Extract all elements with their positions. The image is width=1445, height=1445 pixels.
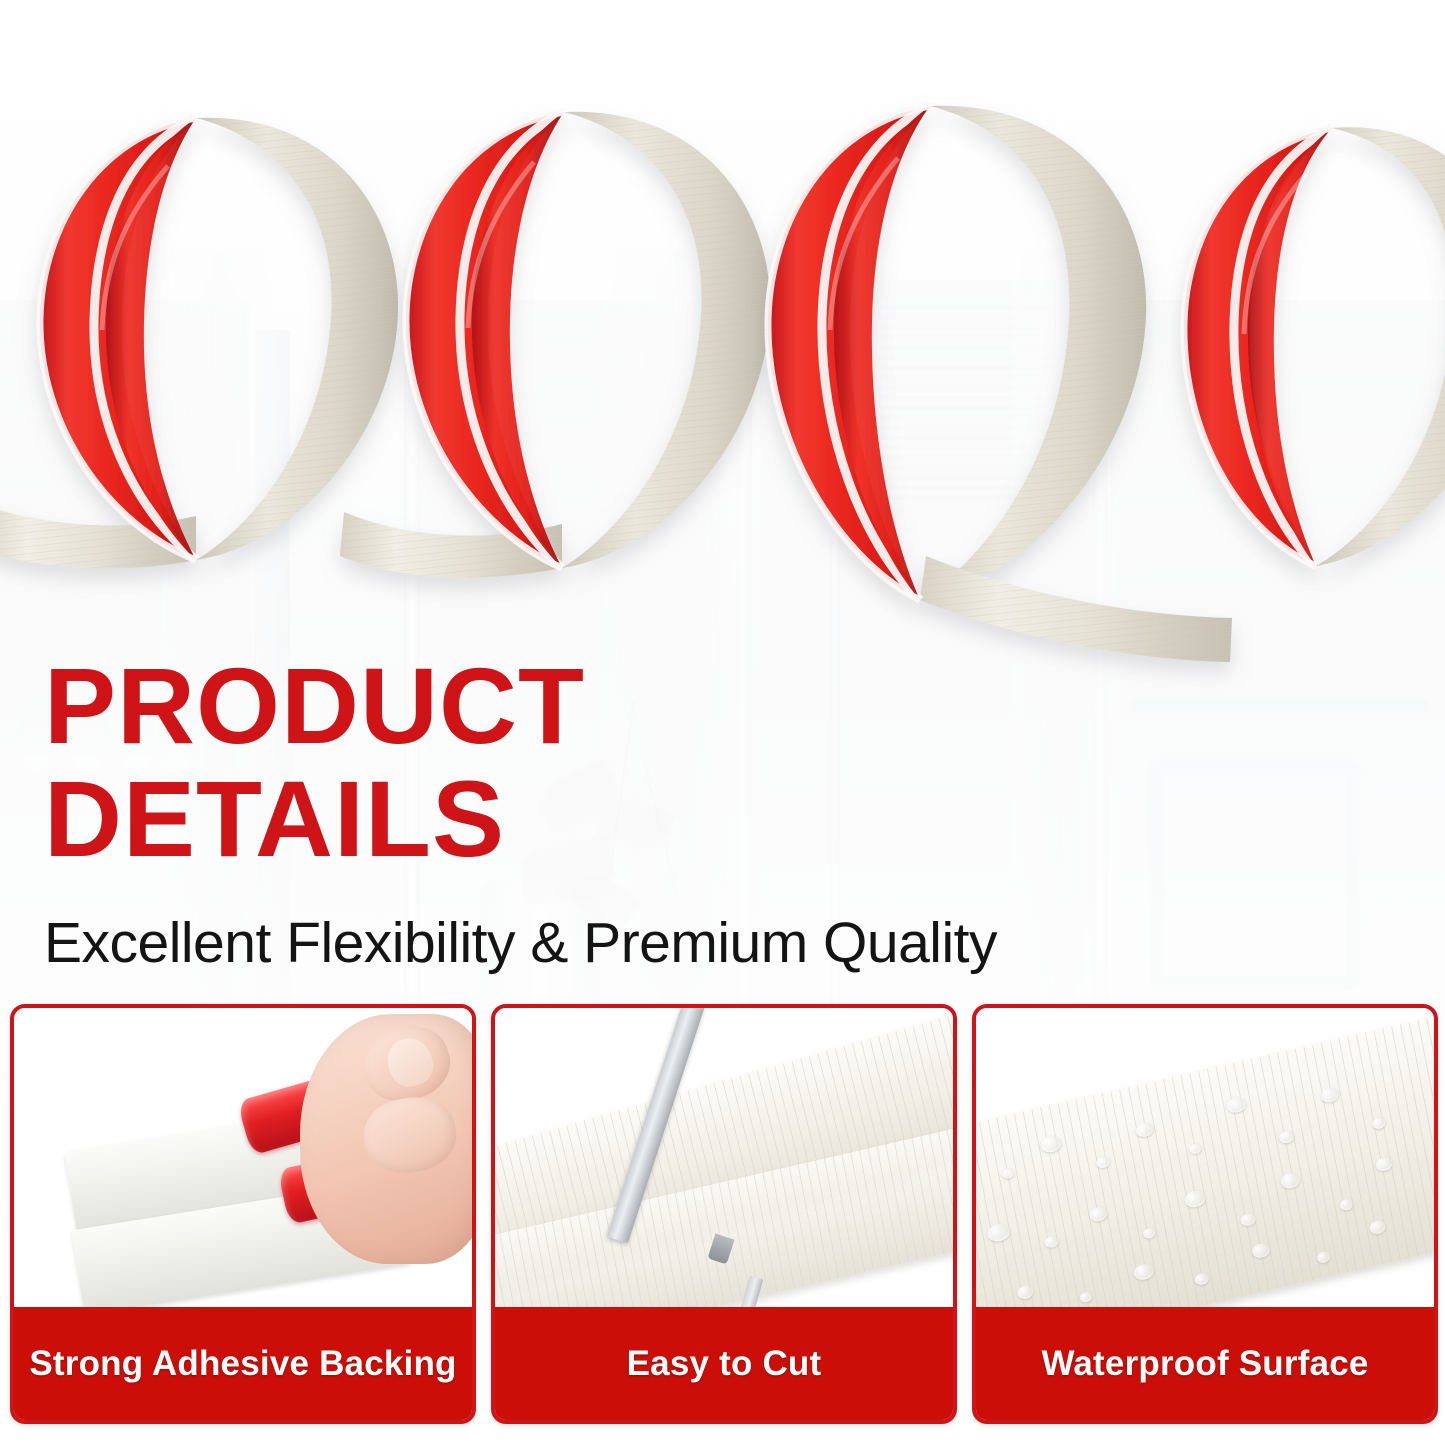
hero-coil-group — [0, 0, 1445, 720]
feature-panel-adhesive[interactable]: Strong Adhesive Backing — [10, 1004, 476, 1424]
product-detail-image: PRODUCT DETAILS Excellent Flexibility & … — [0, 0, 1445, 1445]
feature-image-adhesive — [14, 1008, 472, 1307]
page-subtitle: Excellent Flexibility & Premium Quality — [44, 910, 1144, 976]
hand-illustration — [300, 1014, 472, 1264]
water-droplet-group — [976, 1010, 1434, 1307]
coil-loop-2 — [340, 112, 770, 578]
feature-caption-waterproof: Waterproof Surface — [976, 1307, 1434, 1420]
feature-caption-adhesive: Strong Adhesive Backing — [14, 1307, 472, 1420]
coil-loop-1 — [0, 118, 398, 569]
feature-caption-cut: Easy to Cut — [495, 1307, 953, 1420]
page-title-line-2: DETAILS — [44, 768, 1144, 871]
heading-block: PRODUCT DETAILS Excellent Flexibility & … — [44, 655, 1144, 976]
banding-strip — [976, 1010, 1434, 1307]
feature-image-cut — [495, 1008, 953, 1307]
feature-panel-cut[interactable]: Easy to Cut — [491, 1004, 957, 1424]
feature-panel-waterproof[interactable]: Waterproof Surface — [972, 1004, 1438, 1424]
coil-loop-3 — [768, 106, 1232, 662]
page-title-line-1: PRODUCT — [44, 655, 1144, 758]
feature-panel-row: Strong Adhesive Backing Easy to Cut — [10, 1004, 1438, 1424]
feature-image-waterproof — [976, 1008, 1434, 1307]
coil-loop-4 — [1184, 127, 1445, 566]
finger — [359, 1092, 460, 1178]
